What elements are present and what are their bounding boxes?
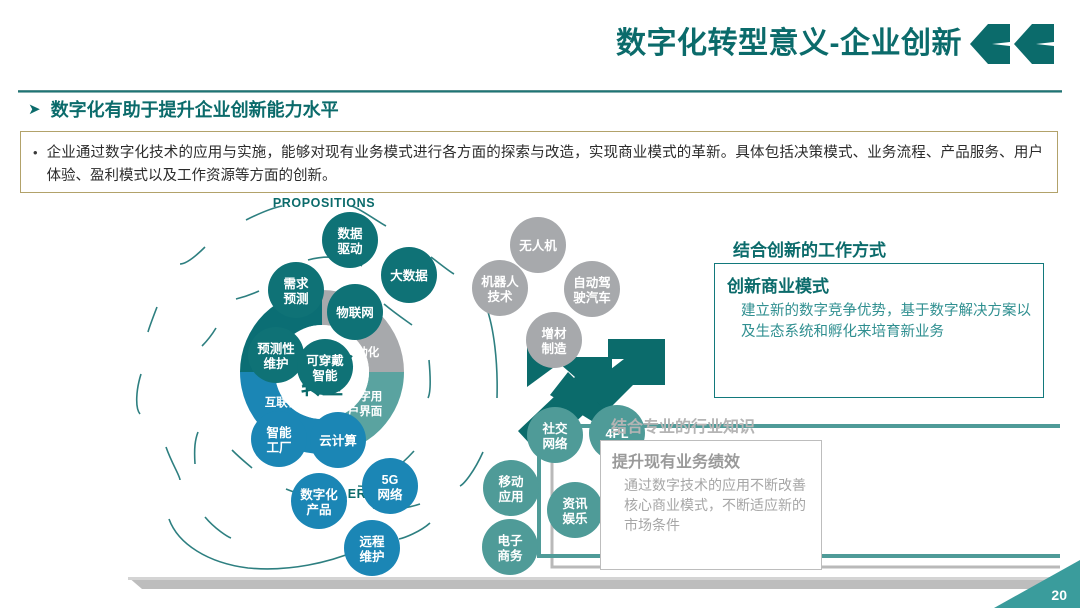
node-shuju-qudong[interactable]: 数据驱动	[322, 212, 378, 268]
node-jiqiren-js[interactable]: 机器人技术	[472, 260, 528, 316]
svg-text:大数据: 大数据	[390, 268, 428, 283]
svg-text:资讯: 资讯	[562, 496, 588, 511]
svg-text:应用: 应用	[498, 489, 523, 504]
svg-text:增材: 增材	[541, 326, 567, 341]
svg-text:预测: 预测	[283, 291, 308, 306]
svg-text:机器人: 机器人	[481, 274, 519, 289]
node-zixun-yl[interactable]: 资讯娱乐	[547, 482, 603, 538]
svg-text:自动驾: 自动驾	[573, 275, 611, 290]
svg-text:网络: 网络	[377, 487, 403, 502]
double-chevron-left-icon	[970, 22, 1062, 66]
svg-text:可穿戴: 可穿戴	[306, 353, 344, 368]
svg-text:维护: 维护	[359, 549, 384, 564]
axis-label-propositions: PROPOSITIONS	[273, 196, 375, 210]
node-da-shuju[interactable]: 大数据	[381, 247, 437, 303]
svg-text:制造: 制造	[541, 341, 567, 356]
node-wulianwang[interactable]: 物联网	[327, 284, 383, 340]
svg-text:社交: 社交	[541, 421, 568, 436]
node-yun-jisuan[interactable]: 云计算	[310, 412, 366, 468]
section-heading: ➤ 数字化有助于提升企业创新能力水平	[28, 96, 339, 122]
title-divider	[18, 90, 1062, 93]
node-yuceixing-wh[interactable]: 预测性维护	[248, 327, 304, 383]
svg-text:需求: 需求	[283, 276, 309, 291]
section-heading-text: 数字化有助于提升企业创新能力水平	[51, 96, 339, 122]
svg-text:数字化: 数字化	[299, 487, 338, 502]
svg-text:预测性: 预测性	[257, 341, 295, 356]
svg-text:维护: 维护	[263, 356, 288, 371]
node-yuancheng-wh[interactable]: 远程维护	[344, 520, 400, 576]
node-zidong-jiashi[interactable]: 自动驾驶汽车	[564, 261, 620, 317]
svg-text:商务: 商务	[497, 548, 523, 563]
node-shuzihua-cp[interactable]: 数字化产品	[291, 473, 347, 529]
svg-text:移动: 移动	[498, 474, 524, 489]
svg-text:电子: 电子	[497, 533, 523, 548]
node-xuqiu-yuce[interactable]: 需求预测	[268, 262, 324, 318]
card-top-body: 建立新的数字竞争优势，基于数字解决方案以及生态系统和孵化来培育新业务	[741, 301, 1031, 342]
node-kechuandai[interactable]: 可穿戴智能	[297, 339, 353, 395]
page-title: 数字化转型意义-企业创新	[616, 18, 962, 62]
card-innovative-business-model: 创新商业模式 建立新的数字竞争优势，基于数字解决方案以及生态系统和孵化来培育新业…	[714, 263, 1044, 398]
card-improve-existing-performance: 提升现有业务绩效 通过数字技术的应用不断改善核心商业模式，不断适应新的市场条件	[600, 440, 822, 570]
node-shejiao-wl[interactable]: 社交网络	[527, 407, 583, 463]
card-bottom-body: 通过数字技术的应用不断改善核心商业模式，不断适应新的市场条件	[624, 476, 810, 536]
node-wuwangge-5g[interactable]: 5G网络	[362, 458, 418, 514]
svg-text:驶汽车: 驶汽车	[573, 290, 611, 305]
svg-text:网络: 网络	[542, 436, 568, 451]
svg-text:智能: 智能	[265, 425, 292, 440]
triangle-bullet-icon: ➤	[28, 102, 41, 117]
body-callout-box: • 企业通过数字化技术的应用与实施，能够对现有业务模式进行各方面的探索与改造，实…	[20, 131, 1058, 193]
dot-bullet-icon: •	[33, 145, 38, 161]
node-zengcai-zz[interactable]: 增材制造	[526, 312, 582, 368]
digital-transformation-diagram: 数据 自动化 数字用 户界面 互联性 数字化 转型 PROPOSITIONS E…	[0, 192, 1080, 592]
svg-text:产品: 产品	[306, 502, 331, 517]
svg-text:5G: 5G	[382, 473, 399, 487]
svg-text:工厂: 工厂	[266, 441, 291, 455]
svg-text:数据: 数据	[336, 226, 363, 241]
svg-text:云计算: 云计算	[319, 433, 357, 448]
node-wurenji[interactable]: 无人机	[510, 217, 566, 273]
node-zhineng-gc[interactable]: 智能工厂	[251, 411, 307, 467]
svg-text:远程: 远程	[359, 534, 385, 549]
page-corner-decoration	[994, 560, 1080, 608]
node-dianzi-sw[interactable]: 电子商务	[482, 519, 538, 575]
svg-text:智能: 智能	[311, 368, 338, 383]
page-number: 20	[1051, 587, 1067, 603]
svg-text:驱动: 驱动	[337, 242, 363, 256]
svg-text:娱乐: 娱乐	[562, 511, 588, 526]
svg-text:技术: 技术	[487, 289, 513, 304]
svg-text:无人机: 无人机	[518, 238, 557, 253]
body-paragraph: 企业通过数字化技术的应用与实施，能够对现有业务模式进行各方面的探索与改造，实现商…	[47, 142, 1043, 189]
card-bottom-heading: 提升现有业务绩效	[612, 448, 810, 472]
svg-text:物联网: 物联网	[336, 305, 374, 320]
mid-label-industry-knowledge: 结合专业的行业知识	[611, 413, 755, 437]
right-panel-title: 结合创新的工作方式	[733, 236, 886, 261]
card-top-heading: 创新商业模式	[727, 272, 1031, 297]
diagram-base-shelf	[128, 577, 1060, 589]
node-yidong-yy[interactable]: 移动应用	[483, 460, 539, 516]
